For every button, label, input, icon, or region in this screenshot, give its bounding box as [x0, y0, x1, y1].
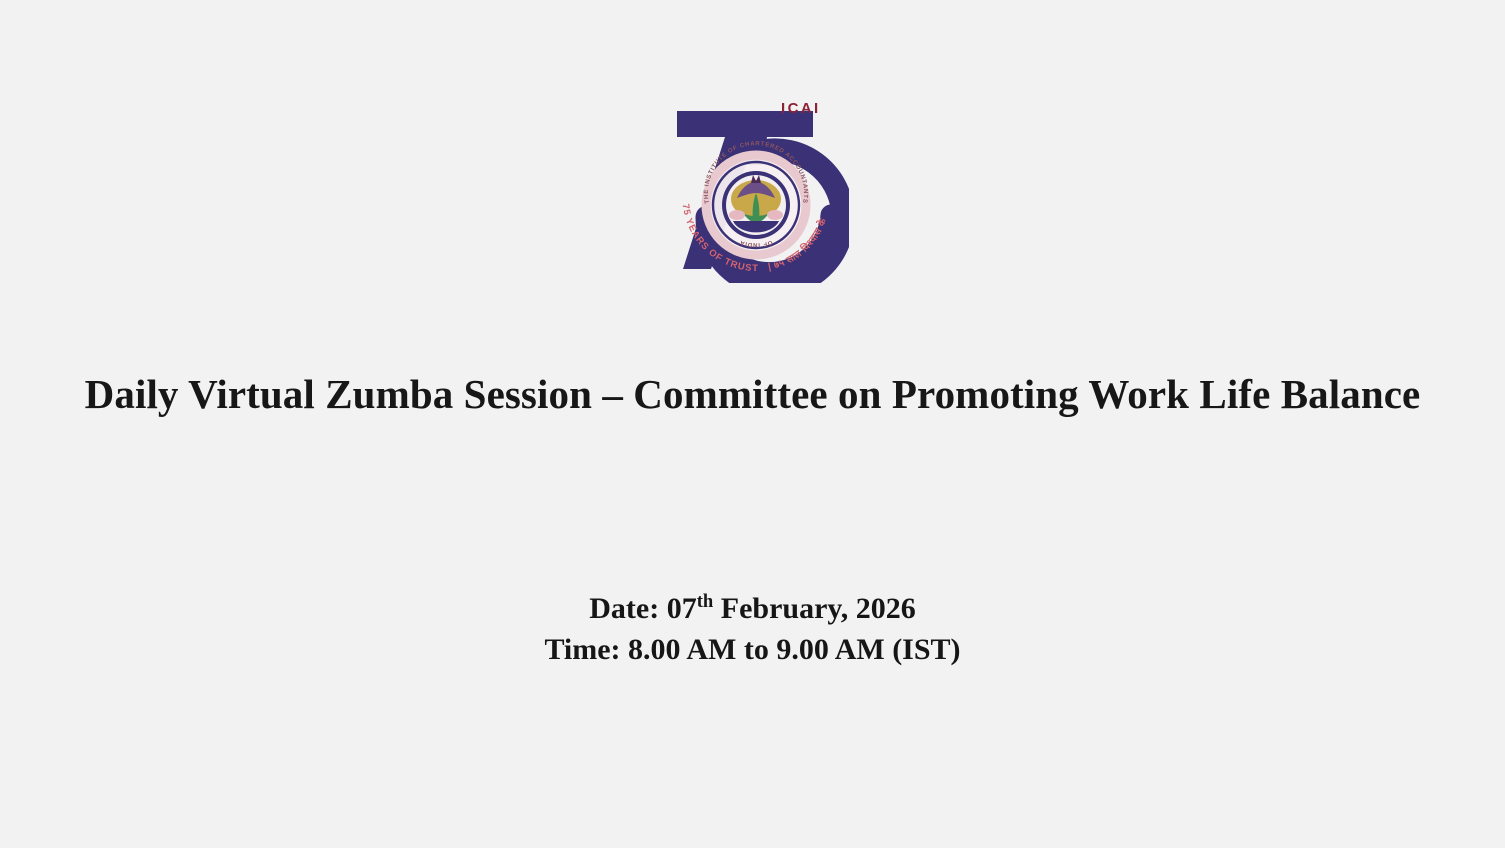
- session-date: Date: 07th February, 2026: [0, 588, 1505, 629]
- logo-seal: THE INSTITUTE OF CHARTERED ACCOUNTANTS O…: [703, 140, 809, 257]
- session-title: Daily Virtual Zumba Session – Committee …: [0, 371, 1505, 418]
- session-datetime-block: Date: 07th February, 2026 Time: 8.00 AM …: [0, 588, 1505, 671]
- logo-icai-text: ICAI: [781, 100, 821, 117]
- session-date-label: Date:: [589, 592, 659, 625]
- icai-75-logo: ICAI THE INSTITUTE OF CHARTERED ACCOUNTA…: [663, 95, 849, 283]
- session-date-ordinal-suffix: th: [697, 591, 714, 612]
- session-time: Time: 8.00 AM to 9.00 AM (IST): [0, 629, 1505, 670]
- session-date-month-year: February, 2026: [721, 592, 916, 625]
- session-date-day: 07: [667, 592, 697, 625]
- presentation-slide: ICAI THE INSTITUTE OF CHARTERED ACCOUNTA…: [0, 0, 1505, 848]
